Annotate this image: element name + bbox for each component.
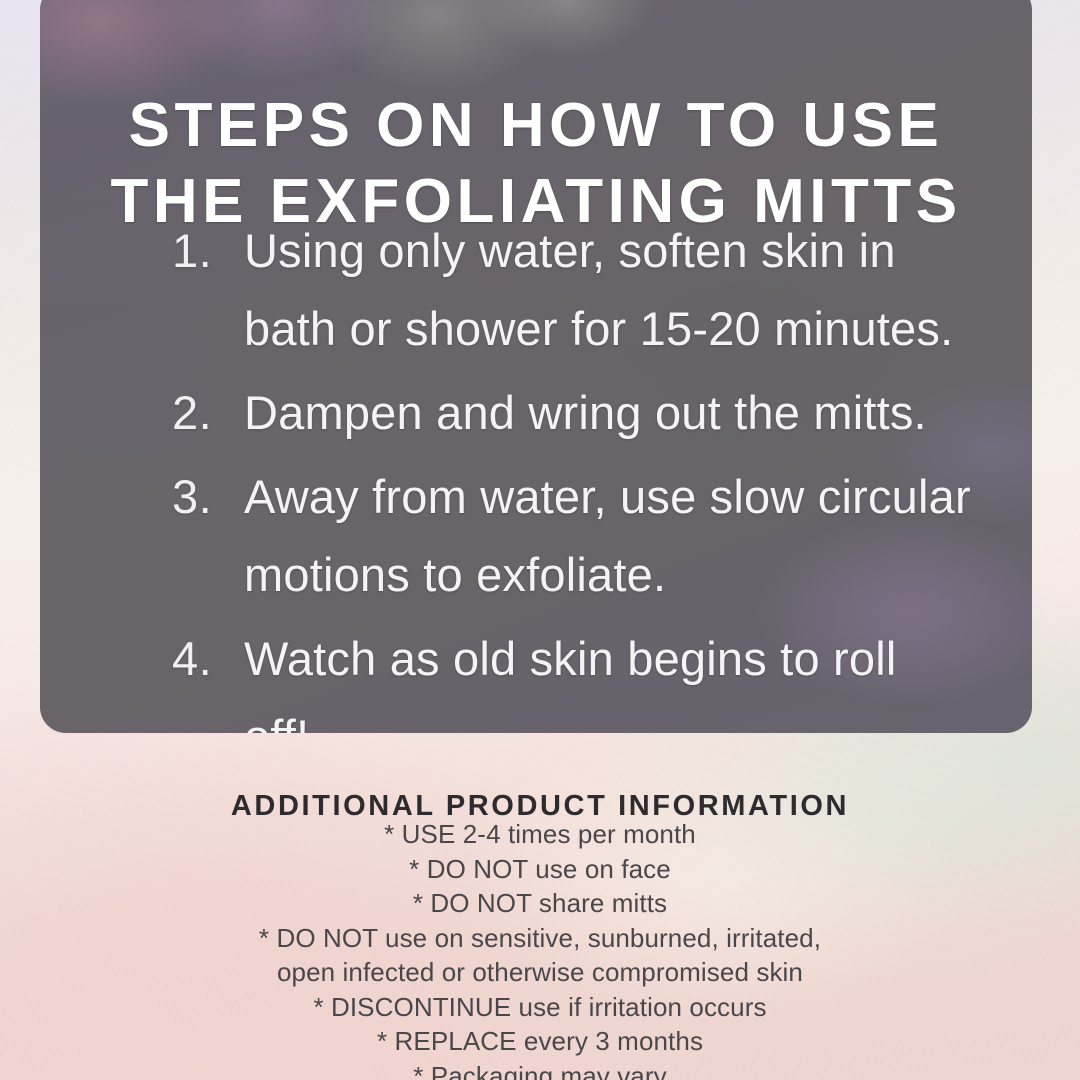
step-number: 1.	[172, 212, 244, 290]
step-text: Dampen and wring out the mitts.	[244, 374, 974, 452]
list-item: open infected or otherwise compromised s…	[0, 955, 1080, 990]
poster-canvas: STEPS ON HOW TO USE THE EXFOLIATING MITT…	[0, 0, 1080, 1080]
list-item: * Packaging may vary	[0, 1059, 1080, 1080]
step-text: Watch as old skin begins to roll off!	[244, 620, 974, 733]
list-item: 1. Using only water, soften skin in bath…	[172, 212, 974, 368]
list-item: * DO NOT use on face	[0, 852, 1080, 887]
list-item: * REPLACE every 3 months	[0, 1024, 1080, 1059]
step-number: 3.	[172, 458, 244, 536]
step-number: 4.	[172, 620, 244, 698]
additional-info-list: * USE 2-4 times per month * DO NOT use o…	[0, 817, 1080, 1080]
step-text: Using only water, soften skin in bath or…	[244, 212, 974, 368]
step-text: Away from water, use slow circular motio…	[244, 458, 974, 614]
list-item: 4. Watch as old skin begins to roll off!	[172, 620, 974, 733]
list-item: * DO NOT share mitts	[0, 886, 1080, 921]
steps-list: 1. Using only water, soften skin in bath…	[172, 212, 974, 733]
list-item: 3. Away from water, use slow circular mo…	[172, 458, 974, 614]
steps-panel: STEPS ON HOW TO USE THE EXFOLIATING MITT…	[40, 0, 1032, 733]
step-number: 2.	[172, 374, 244, 452]
list-item: * USE 2-4 times per month	[0, 817, 1080, 852]
list-item: * DISCONTINUE use if irritation occurs	[0, 990, 1080, 1025]
list-item: 2. Dampen and wring out the mitts.	[172, 374, 974, 452]
panel-content: STEPS ON HOW TO USE THE EXFOLIATING MITT…	[40, 0, 1032, 733]
list-item: * DO NOT use on sensitive, sunburned, ir…	[0, 921, 1080, 956]
